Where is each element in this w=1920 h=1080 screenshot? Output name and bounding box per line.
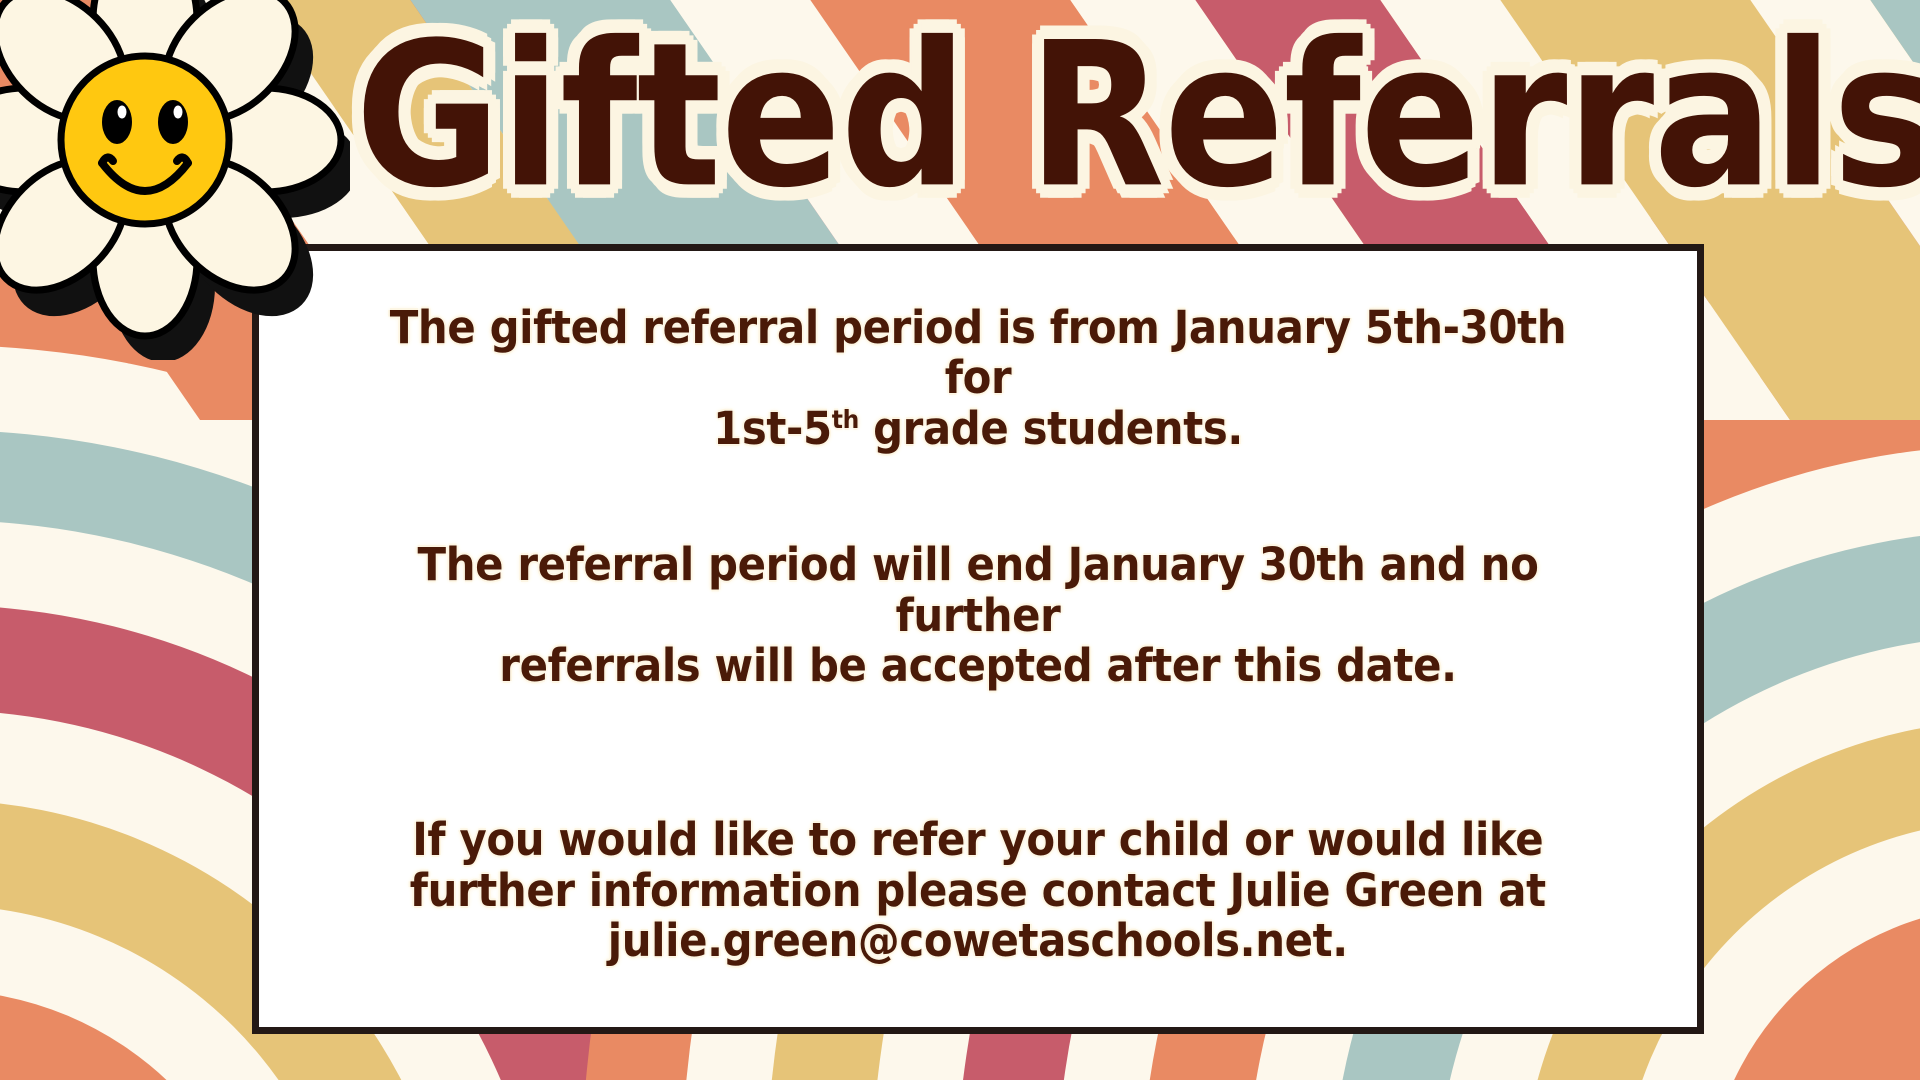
contact-line-2: further information please contact Julie… (410, 864, 1546, 917)
grade-prefix: 1st-5 (713, 402, 832, 455)
announcement-card: The gifted referral period is from Janua… (252, 244, 1704, 1034)
poster-canvas: Gifted Referrals (0, 0, 1920, 1080)
daisy-smiley-icon (0, 0, 350, 360)
page-title-container: Gifted Referrals (355, 8, 1885, 223)
grade-superscript: th (832, 405, 859, 434)
contact-email-text: julie.green@cowetaschools.net. (608, 914, 1348, 967)
paragraph-period-announcement: The gifted referral period is from Janua… (383, 303, 1573, 454)
grade-suffix: grade students. (859, 402, 1243, 455)
page-title: Gifted Referrals (355, 16, 1920, 215)
deadline-line-2: referrals will be accepted after this da… (499, 639, 1456, 692)
period-line-1: The gifted referral period is from Janua… (390, 301, 1566, 404)
deadline-line-1: The referral period will end January 30t… (418, 538, 1539, 641)
paragraph-deadline-notice: The referral period will end January 30t… (383, 540, 1573, 691)
paragraph-contact-info: If you would like to refer your child or… (410, 815, 1546, 966)
contact-line-1: If you would like to refer your child or… (412, 813, 1543, 866)
smiley-face-icon (61, 56, 229, 224)
